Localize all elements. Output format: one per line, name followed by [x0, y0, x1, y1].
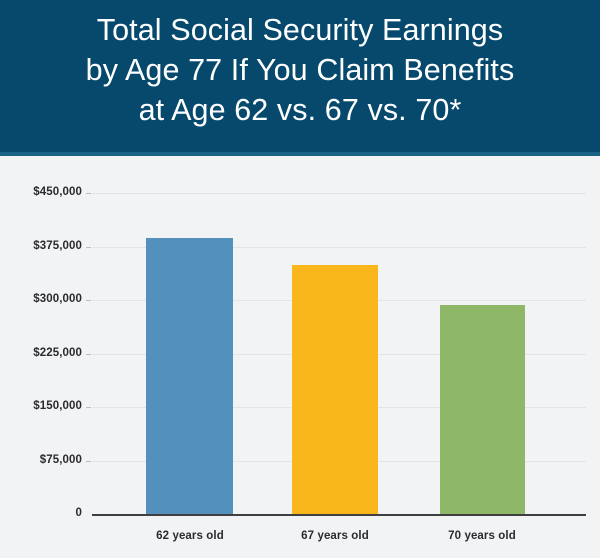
y-axis-tick-mark — [86, 300, 91, 301]
y-axis-tick-label: $300,000 — [33, 293, 82, 305]
gridline — [92, 193, 586, 194]
bar-62-years-old[interactable] — [146, 238, 233, 514]
y-axis-tick-mark — [86, 354, 91, 355]
y-axis-labels: $450,000 $375,000 $300,000 $225,000 $150… — [0, 156, 82, 514]
x-axis-line — [92, 514, 586, 516]
title-line-3: at Age 62 vs. 67 vs. 70* — [12, 90, 588, 130]
plot-area: 62 years old 67 years old 70 years old — [92, 156, 586, 514]
y-axis-tick-label: $375,000 — [33, 240, 82, 252]
infographic-chart-card: Total Social Security Earnings by Age 77… — [0, 0, 600, 558]
y-axis-tick-label: $75,000 — [40, 454, 82, 466]
y-axis-tick-mark — [86, 461, 91, 462]
page-title: Total Social Security Earnings by Age 77… — [12, 10, 588, 130]
bar-67-years-old[interactable] — [292, 265, 378, 514]
bar-70-years-old[interactable] — [440, 305, 525, 514]
title-line-1: Total Social Security Earnings — [12, 10, 588, 50]
title-line-2: by Age 77 If You Claim Benefits — [12, 50, 588, 90]
bar-chart: $450,000 $375,000 $300,000 $225,000 $150… — [0, 156, 600, 558]
y-axis-tick-label: $150,000 — [33, 400, 82, 412]
y-axis-tick-mark — [86, 247, 91, 248]
y-axis-tick-label: $225,000 — [33, 347, 82, 359]
y-axis-tick-label: $450,000 — [33, 186, 82, 198]
x-axis-label-70: 70 years old — [417, 530, 547, 542]
y-axis-tick-mark — [86, 193, 91, 194]
chart-header-banner: Total Social Security Earnings by Age 77… — [0, 0, 600, 152]
x-axis-label-67: 67 years old — [270, 530, 400, 542]
x-axis-label-62: 62 years old — [125, 530, 255, 542]
y-axis-tick-mark — [86, 407, 91, 408]
y-axis-tick-label: 0 — [76, 507, 83, 519]
